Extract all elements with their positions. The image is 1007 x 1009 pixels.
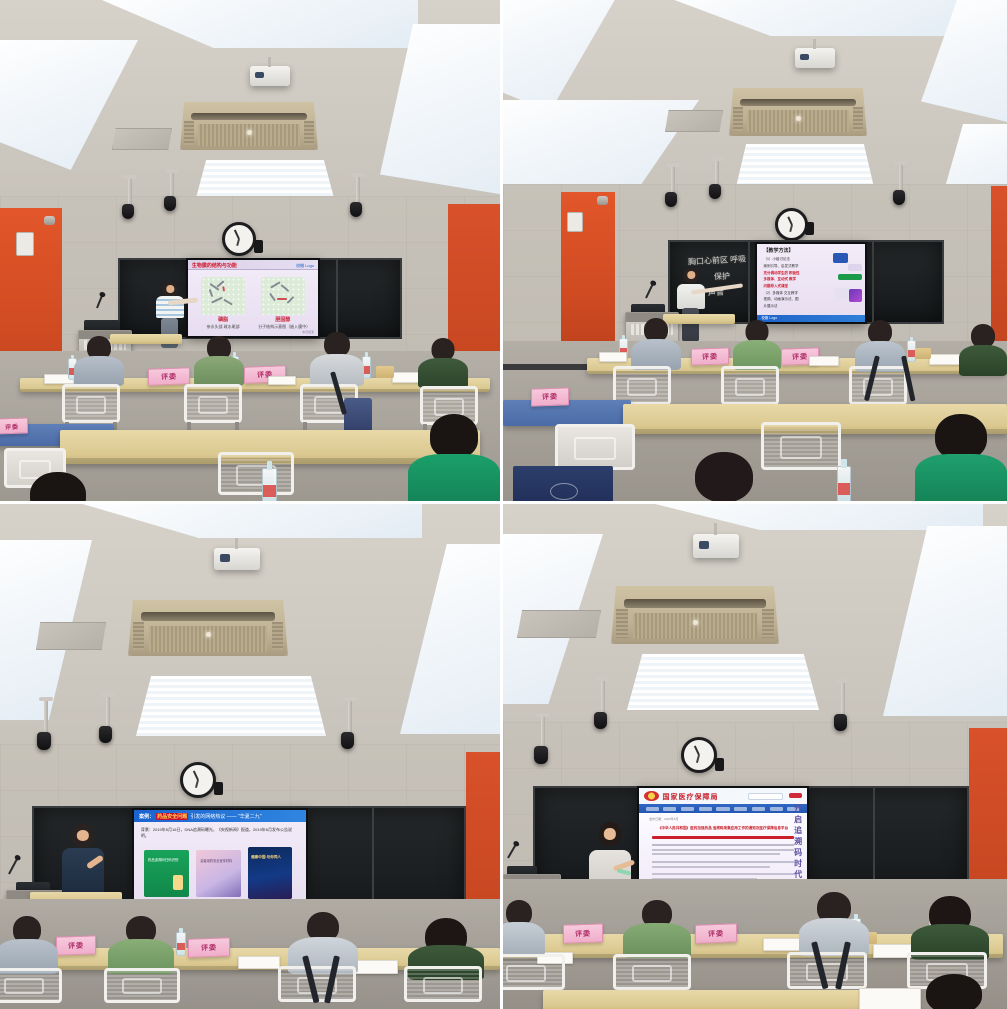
surveillance-camera [122, 204, 134, 219]
nav-item[interactable] [716, 807, 729, 811]
slide-content: 【教学方法】 （1）小组讨论法 案例引导、启发式教学 充分调动学生的 积极性 多… [757, 244, 865, 322]
paper-sheet [238, 956, 280, 969]
ceiling-speaker [597, 196, 608, 205]
audience-member-foreground [408, 414, 500, 501]
audience-desk-row2 [543, 990, 863, 1009]
paper-sheet [809, 356, 839, 366]
conference-chair[interactable] [278, 966, 356, 1009]
molecule-diagram-left [201, 277, 245, 315]
document-meta: 发布日期：2025年6月 [649, 817, 678, 821]
slide-body: 背景：2019年5月16日，DNA追溯码曝光，《央视新闻》报道，2019年6月发… [141, 827, 299, 839]
document-title: 《中华人民共和国》医药加强药品 追溯码采集应用工作的通知及医疗保障信息平台 [652, 826, 793, 831]
ceiling-vent [665, 110, 723, 132]
audience-member [74, 336, 124, 386]
ceiling-vent [36, 622, 106, 650]
surveillance-camera [709, 184, 721, 199]
ac-grille [198, 124, 300, 146]
camera-pole [106, 696, 110, 728]
ceiling-vent [112, 128, 172, 150]
projector [250, 66, 290, 86]
surveillance-camera [99, 726, 112, 743]
tissue-box [376, 366, 394, 378]
presenter-head [163, 282, 178, 297]
nav-item[interactable] [734, 807, 747, 811]
molecule-diagram-right [261, 277, 305, 315]
national-emblem-icon [644, 791, 659, 801]
slide-thumbnail [835, 288, 850, 299]
wall-panel[interactable] [16, 232, 34, 256]
presenter-torso [677, 284, 705, 309]
slide-body: （1）小组讨论法 案例引导、启发式教学 充分调动学生的 积极性 多媒体、互动式 … [763, 256, 819, 309]
conference-chair[interactable] [761, 422, 841, 488]
air-conditioner [180, 102, 318, 150]
photo-panel-bottom-left: 案例： 药品安全问题 引发的网络热议 —— "华夏二九" 背景：2019年5月1… [0, 504, 503, 1009]
photo-panel-top-left: 生物膜的结构与功能 校徽 Logo 磷脂 亲水头部 疏水尾部 [0, 0, 503, 504]
audience-member-foreground [681, 452, 767, 501]
water-bottle [837, 466, 851, 501]
surveillance-camera [341, 732, 354, 749]
audience-member [855, 320, 905, 372]
ac-vent-slot [191, 113, 307, 121]
audience-member-foreground [18, 472, 98, 501]
judge-namecard: 评委 [531, 387, 569, 406]
audience-member [503, 900, 545, 956]
wall-camera [715, 758, 724, 771]
wall-clock [681, 737, 717, 773]
camera-pole [541, 716, 545, 748]
audience-member-foreground [901, 974, 1007, 1009]
audience-member [194, 336, 244, 386]
surveillance-camera [893, 190, 905, 205]
water-bottle [176, 932, 186, 956]
wall-panel[interactable] [567, 212, 583, 232]
presenter-head [72, 824, 94, 847]
audience-member [959, 324, 1007, 376]
ac-side-grille [304, 121, 314, 145]
conference-chair[interactable] [218, 452, 294, 501]
paper-sheet [929, 354, 963, 365]
camera-pole [170, 172, 174, 198]
audience-member [288, 912, 358, 974]
ceiling-light [627, 654, 819, 710]
photo-collage: 生物膜的结构与功能 校徽 Logo 磷脂 亲水头部 疏水尾部 [0, 0, 1007, 1009]
wall-camera [254, 240, 263, 253]
judge-namecard: 评委 [0, 417, 28, 434]
slide-card-poster: 健康中国·与你同人 [248, 847, 293, 899]
projector-mount [268, 57, 271, 67]
judge-namecard: 评委 [695, 923, 737, 943]
photo-panel-top-right: 胸口心前区 呼吸 保护 声音 【教学方法】 （1）小组讨论法 案例引导、启发式教… [503, 0, 1007, 504]
surveillance-camera [534, 746, 548, 764]
camera-pole [899, 164, 903, 192]
slide-title: 生物膜的结构与功能 [192, 262, 237, 269]
nav-item[interactable] [646, 807, 659, 811]
judge-namecard: 评委 [563, 923, 603, 943]
audience-member [733, 320, 781, 370]
air-conditioner [729, 88, 867, 136]
slide-thumbnail [848, 264, 862, 270]
wall-camera [805, 222, 814, 235]
molecule-sub-right: 分子结构示意图（嵌入膜中） [253, 324, 315, 330]
ac-sensor [247, 130, 252, 135]
paper-sheet [352, 960, 398, 974]
wall-clock [222, 222, 256, 256]
presentation-screen[interactable]: 生物膜的结构与功能 校徽 Logo 磷脂 亲水头部 疏水尾部 [186, 258, 320, 338]
air-conditioner [128, 600, 288, 656]
camera-pole [715, 160, 719, 186]
audience-member-foreground [915, 414, 1007, 501]
gov-site-name: 国家医疗保障局 [663, 792, 719, 802]
judge-namecard: 评委 [148, 367, 190, 385]
wall-clock [775, 208, 808, 241]
projector [795, 48, 835, 68]
slide-content: 国家医疗保障局 [639, 788, 807, 890]
presenter [677, 268, 705, 342]
molecule-label-left: 磷脂 [201, 316, 245, 323]
tissue-box [915, 348, 931, 359]
nav-item[interactable] [699, 807, 712, 811]
surveillance-camera [834, 714, 847, 731]
presenter-head [599, 822, 621, 846]
ceiling-speaker [44, 216, 55, 225]
slide-header: 案例： 药品安全问题 引发的网络热议 —— "华夏二九" [134, 810, 306, 822]
presentation-screen[interactable]: 【教学方法】 （1）小组讨论法 案例引导、启发式教学 充分调动学生的 积极性 多… [755, 242, 867, 324]
photo-panel-bottom-right: 国家医疗保障局 [503, 504, 1007, 1009]
molecule-label-right: 胆固醇 [261, 316, 305, 323]
ceiling-light [136, 676, 326, 736]
slide-thumbnail [849, 289, 862, 301]
surveillance-camera [665, 192, 677, 207]
nav-item[interactable] [770, 807, 783, 811]
audience-member [911, 896, 989, 960]
slide-logo: 校徽 Logo [296, 263, 314, 269]
surveillance-camera [594, 712, 607, 729]
gov-nav-bar[interactable] [639, 804, 807, 813]
audience-member [623, 900, 691, 958]
camera-pole [348, 700, 352, 734]
camera-pole [601, 680, 605, 714]
blackboard-note: 保护 [714, 272, 731, 284]
slide-vertical-title: 开启追溯码时代 [793, 804, 804, 881]
wall-clock [180, 762, 216, 798]
audience-member [631, 318, 681, 370]
paper-sheet [599, 352, 627, 362]
slide-thumbnail [833, 253, 848, 262]
surveillance-camera [37, 732, 51, 750]
surveillance-camera [164, 196, 176, 211]
nav-item[interactable] [663, 807, 676, 811]
presenter-head [684, 268, 699, 283]
air-conditioner [611, 586, 779, 644]
conference-chair[interactable] [404, 966, 482, 1009]
slide-card-photo: 患者用药安全宣传材料 [196, 850, 241, 898]
search-input[interactable] [748, 793, 784, 800]
ac-side-grille [184, 121, 194, 145]
paper-sheet [268, 376, 296, 385]
audience-member [418, 338, 468, 388]
document-folder [513, 466, 613, 501]
molecule-sub-left: 亲水头部 疏水尾部 [193, 324, 253, 330]
audience-member [108, 916, 174, 974]
camera-pole [128, 178, 132, 206]
judge-namecard: 评委 [691, 347, 729, 365]
camera-pole [841, 682, 845, 716]
presentation-screen[interactable]: 国家医疗保障局 [637, 786, 809, 892]
ceiling-vent [517, 610, 601, 638]
water-bottle [262, 468, 277, 501]
projector [693, 534, 739, 558]
blackboard-note: 胸口心前区 呼吸 [688, 254, 747, 268]
judge-namecard: 评委 [56, 935, 96, 955]
nav-item[interactable] [681, 807, 694, 811]
surveillance-camera [350, 202, 362, 217]
projector-lens [255, 72, 264, 79]
nav-item[interactable] [752, 807, 765, 811]
search-button[interactable] [789, 793, 802, 798]
audience-member [0, 916, 58, 974]
gov-site-header: 国家医疗保障局 [639, 788, 807, 804]
conference-chair[interactable] [104, 968, 180, 1009]
judge-namecard: 评委 [188, 937, 230, 957]
wall-camera [214, 782, 223, 795]
backpack [344, 398, 372, 432]
slide-card-green: 药品追溯码扫码识别 [144, 850, 189, 898]
conference-chair[interactable] [0, 968, 62, 1009]
slide-thumbnail [838, 274, 862, 280]
projector [214, 548, 260, 570]
camera-pole [356, 176, 360, 204]
slide-content: 生物膜的结构与功能 校徽 Logo 磷脂 亲水头部 疏水尾部 [188, 260, 318, 336]
camera-pole [44, 700, 48, 734]
audience-member [799, 892, 869, 956]
slide-title: 【教学方法】 [763, 247, 793, 254]
camera-pole [671, 166, 675, 194]
